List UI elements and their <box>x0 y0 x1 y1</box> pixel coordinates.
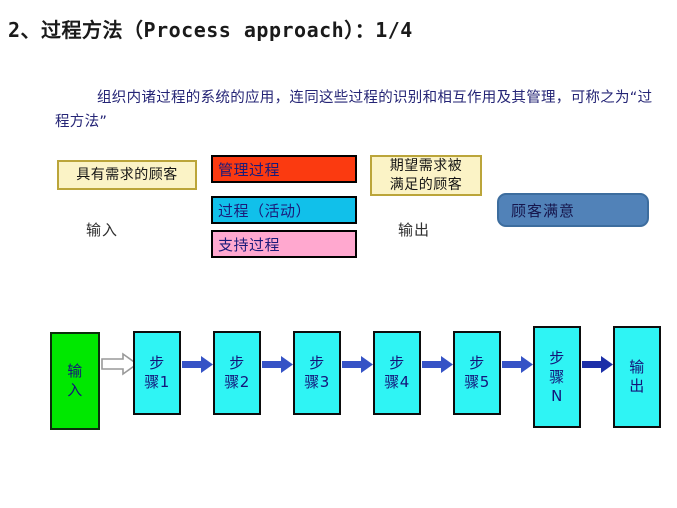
flow-arrow-icon-end <box>582 356 614 373</box>
flow-step-box-3: 步 骤3 <box>293 331 341 415</box>
flow-arrow-icon-3 <box>342 356 374 373</box>
management-process-box: 管理过程 <box>211 155 357 183</box>
output-customer-box: 期望需求被 满足的顾客 <box>370 155 482 196</box>
flow-arrow-icon-4 <box>422 356 454 373</box>
flow-start-box: 输 入 <box>50 332 100 430</box>
support-process-box: 支持过程 <box>211 230 357 258</box>
customer-satisfaction-box: 顾客满意 <box>497 193 649 227</box>
intro-paragraph: 组织内诸过程的系统的应用，连同这些过程的识别和相互作用及其管理，可称之为“过程方… <box>55 86 655 134</box>
page-title: 2、过程方法（Process approach）：1/4 <box>8 14 413 43</box>
flow-end-box: 输 出 <box>613 326 661 428</box>
flow-arrow-icon-1 <box>182 356 214 373</box>
flow-step-box-n: 步 骤 N <box>533 326 581 428</box>
flow-step-box-5: 步 骤5 <box>453 331 501 415</box>
flow-step-box-2: 步 骤2 <box>213 331 261 415</box>
flow-step-box-1: 步 骤1 <box>133 331 181 415</box>
flow-arrow-icon-2 <box>262 356 294 373</box>
output-label: 输出 <box>398 219 430 240</box>
core-process-box: 过程（活动） <box>211 196 357 224</box>
input-label: 输入 <box>86 219 118 240</box>
flow-arrow-icon-5 <box>502 356 534 373</box>
flow-step-box-4: 步 骤4 <box>373 331 421 415</box>
input-customer-box: 具有需求的顾客 <box>57 160 197 190</box>
